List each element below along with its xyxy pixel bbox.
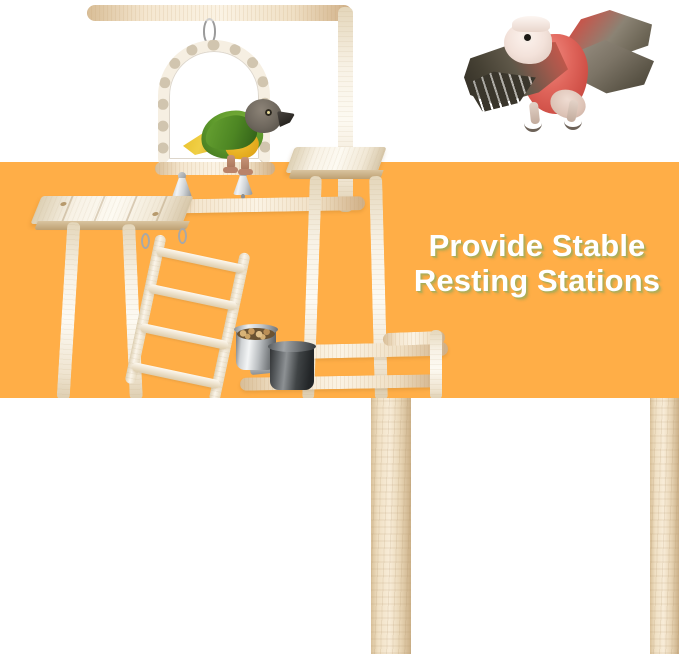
gallows-arm (87, 5, 352, 21)
playstand-illustration-top (0, 0, 679, 398)
headline-top-line-1: Provide Stable (398, 228, 676, 263)
leg-left-front (57, 222, 81, 398)
galah-cockatoo (464, 8, 650, 136)
product-feature-poster: Provide Stable Resting Stations Screw Co… (0, 0, 679, 654)
right-vertical-strut (430, 330, 442, 398)
ladder (124, 234, 257, 398)
leg-right-back (369, 176, 388, 398)
top-panel: Provide Stable Resting Stations (0, 0, 679, 398)
post-left (371, 398, 411, 654)
headline-top: Provide Stable Resting Stations (398, 228, 676, 299)
water-cup (270, 345, 314, 390)
left-platform (30, 196, 193, 224)
post-right (650, 398, 679, 654)
ladder-hook-right (178, 228, 187, 244)
senegal-parrot (183, 83, 295, 181)
gallows-post (338, 7, 353, 212)
ladder-hook-left (141, 233, 150, 249)
headline-top-line-2: Resting Stations (398, 263, 676, 298)
left-platform-edge (34, 221, 190, 230)
bottom-panel: Screw Connection Harmless to Birds (0, 398, 679, 654)
